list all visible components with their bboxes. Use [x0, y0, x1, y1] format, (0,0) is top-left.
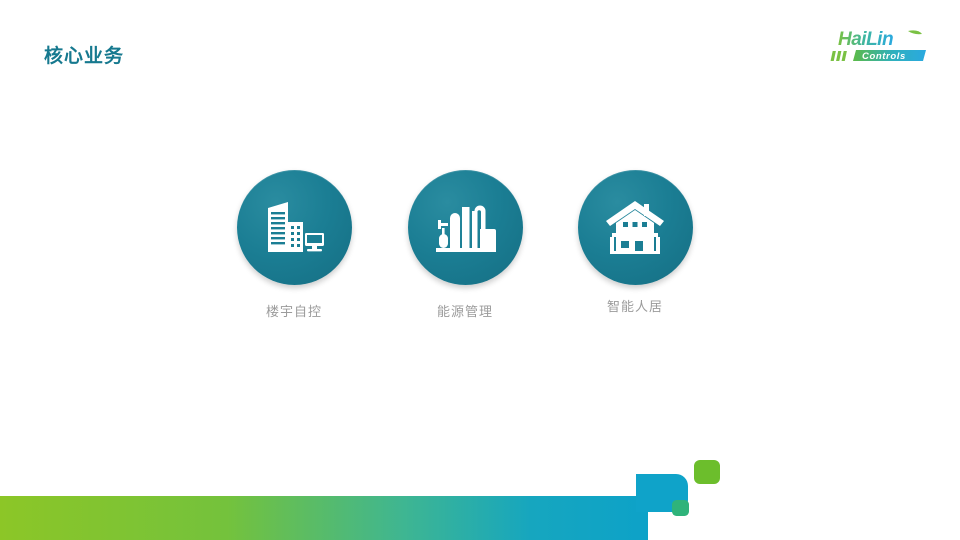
house-icon [604, 199, 666, 257]
footer-green-square-large [694, 460, 720, 484]
footer-cyan-step-block [636, 474, 688, 512]
logo-tagline-text: Controls [862, 51, 906, 62]
footer-gradient-bar [0, 496, 648, 540]
footer-decoration [0, 450, 960, 540]
leaf-icon [908, 30, 922, 34]
logo-mark: HaiLin Controls [830, 26, 934, 66]
logo-bars-icon [831, 51, 847, 61]
business-item-label: 智能人居 [545, 296, 725, 315]
office-building-with-monitor-icon [262, 198, 326, 258]
business-item-smart-home[interactable]: 智能人居 [545, 170, 725, 315]
industrial-plant-icon [433, 198, 497, 258]
page-title: 核心业务 [44, 41, 124, 68]
footer-green-square-small [672, 500, 689, 516]
icon-circle[interactable] [578, 170, 693, 285]
business-item-energy-management[interactable]: 能源管理 [375, 170, 555, 320]
business-item-label: 能源管理 [375, 301, 555, 320]
business-item-label: 楼宇自控 [204, 301, 384, 320]
slide-canvas: 核心业务 HaiLin [0, 0, 960, 540]
icon-circle[interactable] [408, 170, 523, 285]
logo-wordmark-text: HaiLin [838, 29, 893, 50]
icon-circle[interactable] [237, 170, 352, 285]
business-item-building-automation[interactable]: 楼宇自控 [204, 170, 384, 320]
hailin-controls-logo: HaiLin Controls [830, 26, 934, 66]
